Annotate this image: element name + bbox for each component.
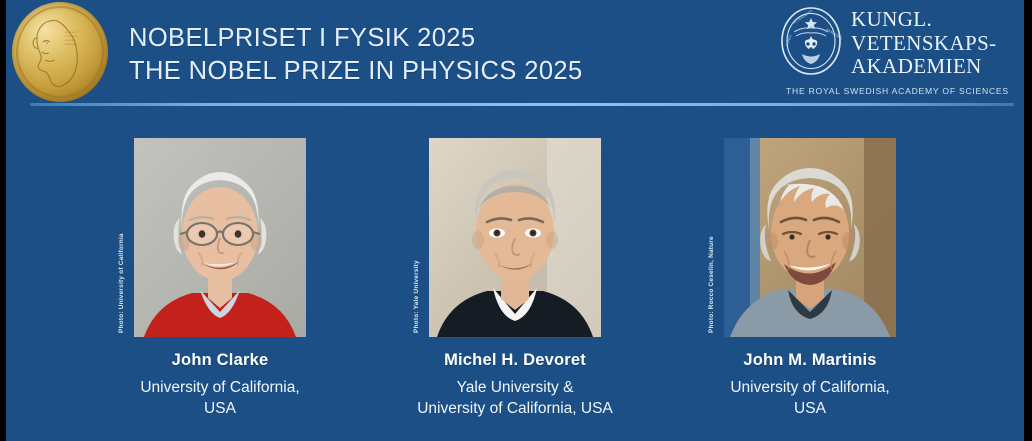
laureate-name: John M. Martinis (743, 351, 876, 370)
photo-credit: Photo: Yale University (413, 260, 420, 333)
academy-wordmark: KUNGL. VETENSKAPS- AKADEMIEN (851, 6, 997, 79)
portrait-photo (724, 138, 896, 337)
laureate-name: Michel H. Devoret (444, 351, 586, 370)
svg-text:AKADEMIEN: AKADEMIEN (825, 27, 842, 41)
affiliation-line: University of California, (140, 377, 299, 398)
portrait-frame: Photo: Rocco Ceselin, Nature (724, 138, 896, 337)
academy-subtitle: THE ROYAL SWEDISH ACADEMY OF SCIENCES (786, 86, 1009, 96)
nobel-medal-icon (12, 2, 108, 102)
slide-header: NOBELPRISET I FYSIK 2025 THE NOBEL PRIZE… (6, 0, 1024, 108)
title-swedish: NOBELPRISET I FYSIK 2025 (129, 22, 583, 55)
affiliation-line: USA (730, 398, 889, 419)
royal-academy-seal-icon: KUNGL VETENSKAPS AKADEMIEN (780, 6, 842, 76)
portrait-photo (429, 138, 601, 337)
academy-line-2: VETENSKAPS- (851, 32, 997, 56)
affiliation-line: University of California, (730, 377, 889, 398)
laureate-card: Photo: Yale University Michel H. Devoret… (429, 138, 601, 419)
portrait-photo (134, 138, 306, 337)
prize-title-block: NOBELPRISET I FYSIK 2025 THE NOBEL PRIZE… (129, 22, 583, 88)
laureate-card: Photo: Rocco Ceselin, Nature John M. Mar… (724, 138, 896, 419)
laureates-row: Photo: University of California John Cla… (6, 138, 1024, 419)
laureate-affiliation: University of California, USA (140, 377, 299, 419)
academy-line-3: AKADEMIEN (851, 55, 997, 79)
laureate-affiliation: Yale University & University of Californ… (417, 377, 613, 419)
portrait-illustration (429, 138, 601, 337)
header-divider (30, 103, 1014, 106)
photo-credit: Photo: University of California (118, 233, 125, 333)
alfred-nobel-profile-icon (25, 12, 85, 92)
affiliation-line: Yale University & (417, 377, 613, 398)
title-english: THE NOBEL PRIZE IN PHYSICS 2025 (129, 55, 583, 88)
svg-text:KUNGL: KUNGL (785, 34, 792, 46)
portrait-frame: Photo: University of California (134, 138, 306, 337)
academy-line-1: KUNGL. (851, 8, 997, 32)
affiliation-line: University of California, USA (417, 398, 613, 419)
royal-academy-logo: KUNGL VETENSKAPS AKADEMIEN KUNGL. VETENS… (780, 6, 1016, 100)
portrait-illustration (724, 138, 896, 337)
portrait-frame: Photo: Yale University (429, 138, 601, 337)
nobel-prize-physics-slide: NOBELPRISET I FYSIK 2025 THE NOBEL PRIZE… (0, 0, 1032, 441)
laureate-card: Photo: University of California John Cla… (134, 138, 306, 419)
portrait-illustration (134, 138, 306, 337)
photo-credit: Photo: Rocco Ceselin, Nature (708, 236, 715, 333)
laureate-affiliation: University of California, USA (730, 377, 889, 419)
laureate-name: John Clarke (172, 351, 269, 370)
affiliation-line: USA (140, 398, 299, 419)
